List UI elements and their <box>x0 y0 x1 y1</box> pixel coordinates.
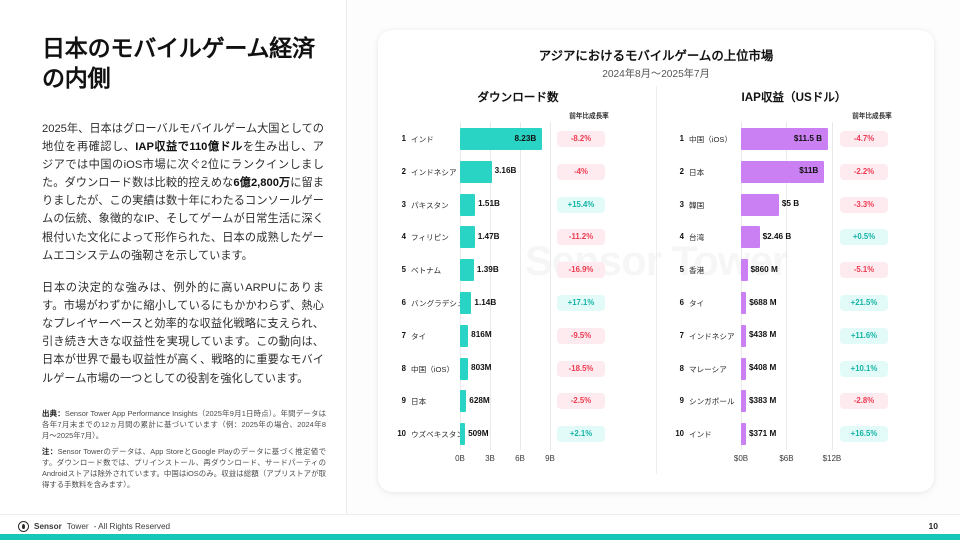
row-growth-badge: -9.5% <box>557 328 605 344</box>
row-market-label: シンガポール <box>689 396 735 407</box>
row-market-label: ベトナム <box>411 265 441 276</box>
row-market-label: バングラデシュ <box>411 298 465 309</box>
row-bar <box>741 292 746 314</box>
slide-root: 日本のモバイルゲーム経済の内側 2025年、日本はグローバルモバイルゲーム大国と… <box>0 0 960 540</box>
row-value-label: $11.5 B <box>741 134 822 143</box>
footer-brand-bold: Sensor <box>34 522 62 531</box>
chart-row[interactable]: 4台湾$2.46 B+0.5% <box>656 222 934 252</box>
row-bar <box>460 325 468 347</box>
row-market-label: インド <box>689 429 712 440</box>
row-rank: 7 <box>670 331 684 340</box>
chart-row[interactable]: 6タイ$688 M+21.5% <box>656 288 934 318</box>
footnote-source-text: Sensor Tower App Performance Insights（20… <box>42 409 326 441</box>
row-market-label: 韓国 <box>689 200 704 211</box>
footer-brand-rest: Tower <box>67 522 89 531</box>
row-growth-badge: -8.2% <box>557 131 605 147</box>
row-value-label: 509M <box>468 429 488 438</box>
row-value-label: 1.47B <box>478 232 500 241</box>
row-growth-badge: -3.3% <box>840 197 888 213</box>
row-market-label: フィリピン <box>411 232 449 243</box>
row-growth-badge: -11.2% <box>557 229 605 245</box>
row-rank: 6 <box>670 298 684 307</box>
row-rank: 10 <box>670 429 684 438</box>
row-rank: 3 <box>392 200 406 209</box>
chart-row[interactable]: 2日本$11B-2.2% <box>656 157 934 187</box>
row-rank: 4 <box>392 232 406 241</box>
panel-revenue: 1中国（iOS）$11.5 B-4.7%2日本$11B-2.2%3韓国$5 B-… <box>656 30 934 492</box>
row-rank: 2 <box>392 167 406 176</box>
row-bar <box>460 358 468 380</box>
chart-row[interactable]: 7インドネシア$438 M+11.6% <box>656 321 934 351</box>
row-growth-badge: +15.4% <box>557 197 605 213</box>
row-rank: 3 <box>670 200 684 209</box>
row-value-label: 816M <box>471 330 491 339</box>
row-bar <box>741 390 746 412</box>
row-bar <box>460 423 465 445</box>
body-paragraph-2: 日本の決定的な強みは、例外的に高いARPUにあります。市場がわずかに縮小している… <box>42 279 324 388</box>
row-growth-badge: +21.5% <box>840 295 888 311</box>
row-value-label: $408 M <box>749 363 776 372</box>
row-market-label: 香港 <box>689 265 704 276</box>
row-growth-badge: -5.1% <box>840 262 888 278</box>
chart-row[interactable]: 1インド8.23B-8.2% <box>378 124 656 154</box>
row-growth-badge: -4% <box>557 164 605 180</box>
row-growth-badge: -18.5% <box>557 361 605 377</box>
row-growth-badge: -16.9% <box>557 262 605 278</box>
body-paragraph-1: 2025年、日本はグローバルモバイルゲーム大国としての地位を再確認し、IAP収益… <box>42 120 324 265</box>
page-number: 10 <box>928 521 938 531</box>
footnote-source-label: 出典： <box>42 409 65 418</box>
row-market-label: 日本 <box>689 167 704 178</box>
footnotes: 出典：Sensor Tower App Performance Insights… <box>42 408 326 491</box>
row-bar <box>460 390 466 412</box>
x-axis-tick: $0B <box>734 454 748 463</box>
row-value-label: 1.51B <box>478 199 500 208</box>
chart-row[interactable]: 8中国（iOS）803M-18.5% <box>378 354 656 384</box>
row-market-label: パキスタン <box>411 200 449 211</box>
row-bar <box>460 292 471 314</box>
row-market-label: ウズベキスタン <box>411 429 464 440</box>
row-market-label: 日本 <box>411 396 426 407</box>
row-rank: 8 <box>670 364 684 373</box>
row-growth-badge: +17.1% <box>557 295 605 311</box>
row-market-label: タイ <box>689 298 704 309</box>
row-value-label: 1.39B <box>477 265 499 274</box>
chart-row[interactable]: 7タイ816M-9.5% <box>378 321 656 351</box>
x-axis-tick: 9B <box>545 454 555 463</box>
x-axis-tick: 3B <box>485 454 495 463</box>
row-value-label: 628M <box>469 396 489 405</box>
x-axis: $0B$6B$12B <box>656 454 934 468</box>
row-growth-badge: +11.6% <box>840 328 888 344</box>
row-growth-badge: +16.5% <box>840 426 888 442</box>
row-rank: 2 <box>670 167 684 176</box>
para1-highlight-revenue: IAP収益で110億ドル <box>135 141 243 153</box>
row-market-label: タイ <box>411 331 426 342</box>
chart-row[interactable]: 5香港$860 M-5.1% <box>656 255 934 285</box>
row-market-label: インドネシア <box>689 331 735 342</box>
row-bar <box>741 325 746 347</box>
chart-row[interactable]: 1中国（iOS）$11.5 B-4.7% <box>656 124 934 154</box>
row-rank: 4 <box>670 232 684 241</box>
row-growth-badge: +10.1% <box>840 361 888 377</box>
x-axis-tick: 0B <box>455 454 465 463</box>
row-value-label: 803M <box>471 363 491 372</box>
row-bar <box>741 259 748 281</box>
row-value-label: $371 M <box>749 429 776 438</box>
row-rank: 7 <box>392 331 406 340</box>
row-rank: 6 <box>392 298 406 307</box>
chart-row[interactable]: 8マレーシア$408 M+10.1% <box>656 354 934 384</box>
row-rank: 9 <box>670 396 684 405</box>
x-axis-tick: $12B <box>823 454 842 463</box>
row-bar <box>741 194 779 216</box>
para1-highlight-downloads: 6億2,800万 <box>233 177 290 189</box>
row-rank: 9 <box>392 396 406 405</box>
row-bar <box>460 259 474 281</box>
chart-row[interactable]: 3韓国$5 B-3.3% <box>656 190 934 220</box>
x-axis-tick: 6B <box>515 454 525 463</box>
row-bar <box>741 423 746 445</box>
row-value-label: $438 M <box>749 330 776 339</box>
footnote-note: 注：Sensor Towerのデータは、App StoreとGoogle Pla… <box>42 446 326 491</box>
x-axis-tick: $6B <box>779 454 793 463</box>
footer-rights: - All Rights Reserved <box>94 522 170 531</box>
row-growth-badge: +0.5% <box>840 229 888 245</box>
row-market-label: 中国（iOS） <box>689 134 732 145</box>
chart-row[interactable]: 4フィリピン1.47B-11.2% <box>378 222 656 252</box>
row-rank: 1 <box>670 134 684 143</box>
row-rank: 5 <box>670 265 684 274</box>
row-value-label: 1.14B <box>474 298 496 307</box>
chart-row[interactable]: 2インドネシア3.16B-4% <box>378 157 656 187</box>
row-value-label: $5 B <box>782 199 799 208</box>
row-market-label: 台湾 <box>689 232 704 243</box>
row-value-label: $11B <box>741 166 818 175</box>
row-growth-badge: -2.5% <box>557 393 605 409</box>
row-market-label: インド <box>411 134 434 145</box>
chart-card: Sensor Tower アジアにおけるモバイルゲームの上位市場 2024年8月… <box>378 30 934 492</box>
column-divider <box>346 0 347 514</box>
chart-row[interactable]: 9シンガポール$383 M-2.8% <box>656 386 934 416</box>
row-value-label: $2.46 B <box>763 232 792 241</box>
row-market-label: インドネシア <box>411 167 457 178</box>
row-bar <box>741 226 760 248</box>
chart-row[interactable]: 9日本628M-2.5% <box>378 386 656 416</box>
chart-row[interactable]: 5ベトナム1.39B-16.9% <box>378 255 656 285</box>
row-bar <box>741 358 746 380</box>
footer-brand: SensorTower - All Rights Reserved <box>18 521 170 532</box>
chart-row[interactable]: 10インド$371 M+16.5% <box>656 419 934 449</box>
row-bar <box>460 226 475 248</box>
row-value-label: $383 M <box>749 396 776 405</box>
row-value-label: 8.23B <box>460 134 536 143</box>
x-axis: 0B3B6B9B <box>378 454 656 468</box>
row-growth-badge: -2.8% <box>840 393 888 409</box>
para1-part-e: に留まりましたが、この実績は数十年にわたるコンソールゲームの伝統、象徴的なIP、… <box>42 177 324 262</box>
row-rank: 10 <box>392 429 406 438</box>
row-rank: 1 <box>392 134 406 143</box>
footer-accent-bar <box>0 534 960 540</box>
row-bar <box>460 194 475 216</box>
left-text-column: 日本のモバイルゲーム経済の内側 2025年、日本はグローバルモバイルゲーム大国と… <box>0 0 346 514</box>
footnote-source: 出典：Sensor Tower App Performance Insights… <box>42 408 326 442</box>
sensor-tower-logo-icon <box>18 521 29 532</box>
row-market-label: 中国（iOS） <box>411 364 454 375</box>
footnote-note-text: Sensor Towerのデータは、App StoreとGoogle Playの… <box>42 447 326 490</box>
row-growth-badge: +2.1% <box>557 426 605 442</box>
row-rank: 5 <box>392 265 406 274</box>
row-bar <box>460 161 492 183</box>
row-rank: 8 <box>392 364 406 373</box>
chart-row[interactable]: 10ウズベキスタン509M+2.1% <box>378 419 656 449</box>
row-value-label: $860 M <box>751 265 778 274</box>
chart-row[interactable]: 3パキスタン1.51B+15.4% <box>378 190 656 220</box>
row-growth-badge: -4.7% <box>840 131 888 147</box>
chart-row[interactable]: 6バングラデシュ1.14B+17.1% <box>378 288 656 318</box>
row-value-label: 3.16B <box>495 166 517 175</box>
row-market-label: マレーシア <box>689 364 727 375</box>
page-title: 日本のモバイルゲーム経済の内側 <box>42 34 332 94</box>
footnote-note-label: 注： <box>42 447 58 456</box>
panel-downloads: 1インド8.23B-8.2%2インドネシア3.16B-4%3パキスタン1.51B… <box>378 30 656 492</box>
row-growth-badge: -2.2% <box>840 164 888 180</box>
row-value-label: $688 M <box>749 298 776 307</box>
